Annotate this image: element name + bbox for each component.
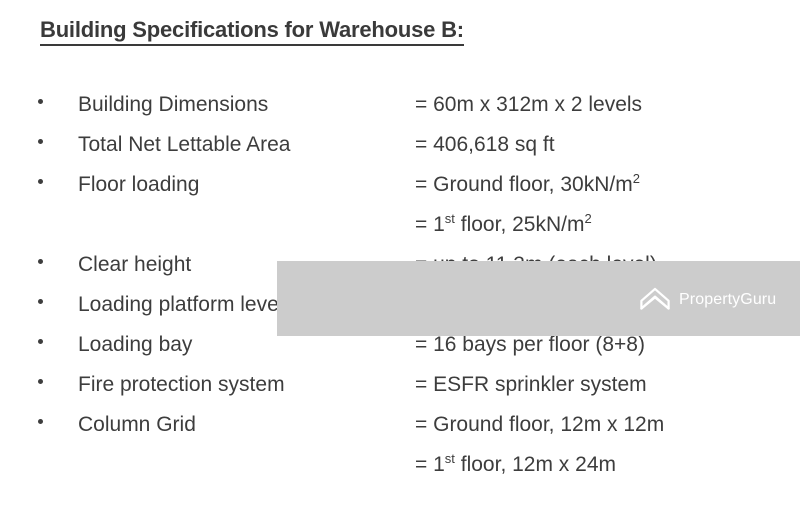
spec-row: Fire protection system = ESFR sprinkler … xyxy=(0,365,800,405)
spec-value-eq: = xyxy=(415,373,433,396)
spec-value-text: floor, 25kN/m xyxy=(455,213,585,236)
spec-label: Loading bay xyxy=(78,325,192,365)
bullet-icon xyxy=(38,259,43,264)
propertyguru-house-icon xyxy=(638,283,672,317)
spec-label: Total Net Lettable Area xyxy=(78,125,290,165)
spec-value-number: 1 xyxy=(433,453,445,476)
spec-value-eq: = xyxy=(415,133,433,156)
spec-value-superscript: 2 xyxy=(584,211,591,226)
bullet-icon xyxy=(38,179,43,184)
spec-row-continuation: = 1st floor, 25kN/m2 xyxy=(0,205,800,245)
spec-value-number: 1 xyxy=(433,213,445,236)
spec-value-text: Ground floor, 30kN/m xyxy=(433,173,633,196)
spec-value: = 1st floor, 12m x 24m xyxy=(415,445,616,485)
spec-value: = 1st floor, 25kN/m2 xyxy=(415,205,592,245)
spec-value-superscript: 2 xyxy=(633,171,640,186)
spec-value-ordinal: st xyxy=(445,211,455,226)
watermark-brand-label: PropertyGuru xyxy=(679,291,776,309)
spec-value-eq: = xyxy=(415,173,433,196)
spec-row: Building Dimensions = 60m x 312m x 2 lev… xyxy=(0,85,800,125)
spec-value: = Ground floor, 30kN/m2 xyxy=(415,165,640,205)
bullet-icon xyxy=(38,339,43,344)
bullet-icon xyxy=(38,299,43,304)
bullet-icon xyxy=(38,99,43,104)
spec-label: Clear height xyxy=(78,245,191,285)
page-title: Building Specifications for Warehouse B: xyxy=(40,17,464,46)
bullet-icon xyxy=(38,139,43,144)
spec-value: = 60m x 312m x 2 levels xyxy=(415,85,642,125)
spec-row: Floor loading = Ground floor, 30kN/m2 xyxy=(0,165,800,205)
spec-row-continuation: = 1st floor, 12m x 24m xyxy=(0,445,800,485)
bullet-icon xyxy=(38,419,43,424)
spec-value-text: 60m x 312m x 2 levels xyxy=(433,93,642,116)
spec-value-ordinal: st xyxy=(445,451,455,466)
spec-label: Column Grid xyxy=(78,405,196,445)
spec-label: Loading platform level xyxy=(78,285,283,325)
spec-value-text: ESFR sprinkler system xyxy=(433,373,647,396)
spec-value: = ESFR sprinkler system xyxy=(415,365,647,405)
spec-label: Floor loading xyxy=(78,165,199,205)
bullet-icon xyxy=(38,379,43,384)
spec-value-eq: = xyxy=(415,213,433,236)
spec-value: = Ground floor, 12m x 12m xyxy=(415,405,664,445)
spec-row: Total Net Lettable Area = 406,618 sq ft xyxy=(0,125,800,165)
spec-value-eq: = xyxy=(415,453,433,476)
spec-value-text: 16 bays per floor (8+8) xyxy=(433,333,645,356)
spec-label: Building Dimensions xyxy=(78,85,268,125)
spec-label: Fire protection system xyxy=(78,365,285,405)
watermark-brand: PropertyGuru xyxy=(638,282,776,318)
spec-value: = 406,618 sq ft xyxy=(415,125,555,165)
spec-row: Column Grid = Ground floor, 12m x 12m xyxy=(0,405,800,445)
spec-value-eq: = xyxy=(415,413,433,436)
spec-value-text: floor, 12m x 24m xyxy=(455,453,616,476)
spec-value-eq: = xyxy=(415,333,433,356)
spec-value-eq: = xyxy=(415,93,433,116)
spec-value-text: Ground floor, 12m x 12m xyxy=(433,413,664,436)
slide-canvas: Building Specifications for Warehouse B:… xyxy=(0,0,800,523)
spec-value-text: 406,618 sq ft xyxy=(433,133,554,156)
